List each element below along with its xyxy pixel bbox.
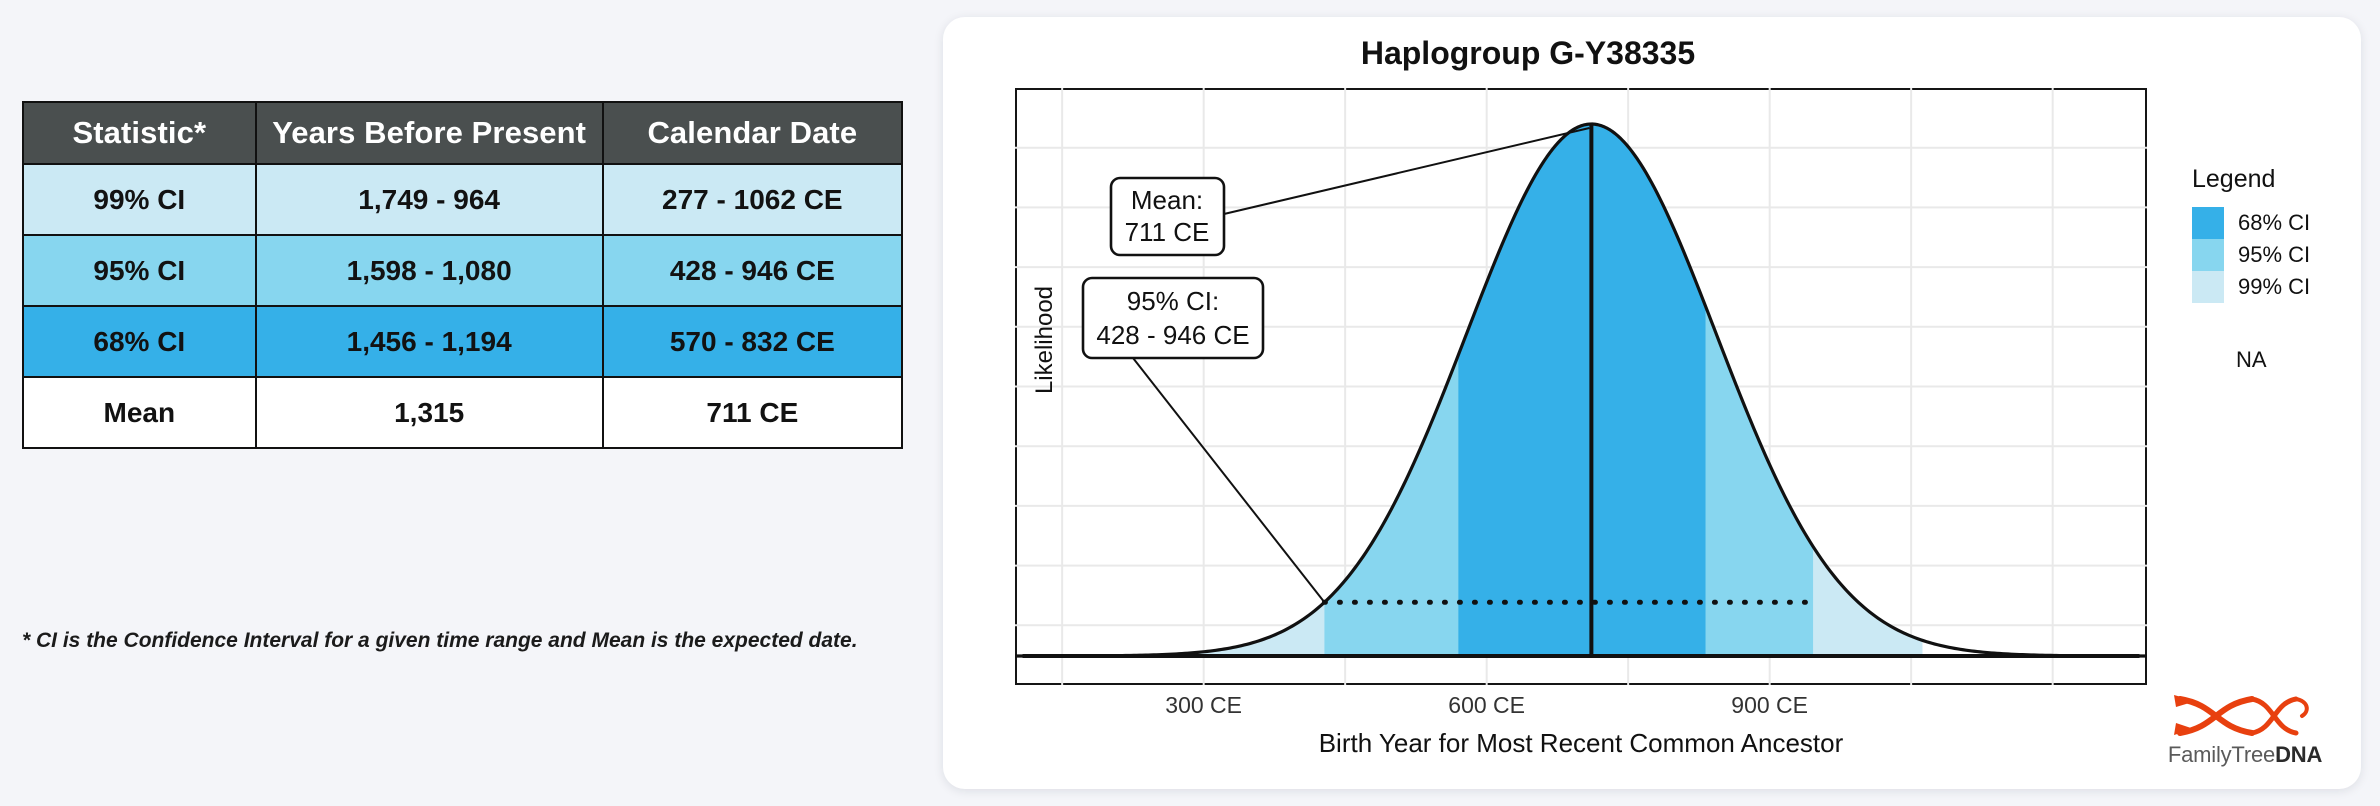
cell-statistic: 68% CI bbox=[23, 306, 256, 377]
cell-calendar: 428 - 946 CE bbox=[603, 235, 902, 306]
ci95-callout-line2: 428 - 946 CE bbox=[1096, 320, 1249, 350]
x-axis-label: Birth Year for Most Recent Common Ancest… bbox=[1015, 728, 2147, 759]
legend: Legend 68% CI 95% CI 99% CI NA bbox=[2192, 165, 2357, 373]
page-root: Statistic* Years Before Present Calendar… bbox=[0, 0, 2380, 806]
cell-ybp: 1,598 - 1,080 bbox=[256, 235, 603, 306]
chart-title: Haplogroup G-Y38335 bbox=[943, 35, 2113, 72]
legend-item-68-ci[interactable]: 68% CI bbox=[2192, 207, 2357, 239]
column-header-statistic: Statistic* bbox=[23, 102, 256, 164]
mean-callout: Mean: 711 CE bbox=[1111, 178, 1224, 255]
statistics-table: Statistic* Years Before Present Calendar… bbox=[22, 101, 903, 449]
likelihood-density-plot: Mean: 711 CE 95% CI: 428 - 946 CE bbox=[1015, 88, 2147, 685]
legend-title: Legend bbox=[2192, 165, 2357, 194]
chart-card: Haplogroup G-Y38335 bbox=[943, 17, 2361, 789]
cell-calendar: 277 - 1062 CE bbox=[603, 164, 902, 235]
dna-helix-icon bbox=[2170, 689, 2320, 737]
legend-item-label: 95% CI bbox=[2238, 242, 2310, 268]
cell-statistic: 95% CI bbox=[23, 235, 256, 306]
table-row: 95% CI 1,598 - 1,080 428 - 946 CE bbox=[23, 235, 902, 306]
cell-statistic: Mean bbox=[23, 377, 256, 448]
x-tick-label: 300 CE bbox=[1165, 692, 1242, 719]
y-axis-label: Likelihood bbox=[1031, 240, 1059, 440]
legend-swatch-icon bbox=[2192, 271, 2224, 303]
wordmark-familytree: FamilyTree bbox=[2168, 742, 2275, 767]
table-header-row: Statistic* Years Before Present Calendar… bbox=[23, 102, 902, 164]
table-row: 68% CI 1,456 - 1,194 570 - 832 CE bbox=[23, 306, 902, 377]
x-tick-label: 900 CE bbox=[1731, 692, 1808, 719]
mean-callout-line1: Mean: bbox=[1131, 185, 1203, 215]
legend-na-text: NA bbox=[2236, 347, 2357, 373]
wordmark-dna: DNA bbox=[2275, 742, 2322, 767]
cell-calendar: 570 - 832 CE bbox=[603, 306, 902, 377]
cell-ybp: 1,749 - 964 bbox=[256, 164, 603, 235]
plot-area: Mean: 711 CE 95% CI: 428 - 946 CE Likeli… bbox=[1015, 88, 2147, 685]
cell-calendar: 711 CE bbox=[603, 377, 902, 448]
legend-item-label: 68% CI bbox=[2238, 210, 2310, 236]
familytreedna-logo: FamilyTreeDNA bbox=[2155, 689, 2335, 768]
cell-statistic: 99% CI bbox=[23, 164, 256, 235]
familytreedna-wordmark: FamilyTreeDNA bbox=[2155, 742, 2335, 768]
legend-item-label: 99% CI bbox=[2238, 274, 2310, 300]
legend-item-95-ci[interactable]: 95% CI bbox=[2192, 239, 2357, 271]
ci95-callout: 95% CI: 428 - 946 CE bbox=[1083, 278, 1263, 358]
cell-ybp: 1,456 - 1,194 bbox=[256, 306, 603, 377]
column-header-years-before-present: Years Before Present bbox=[256, 102, 603, 164]
legend-swatch-icon bbox=[2192, 207, 2224, 239]
table-row: 99% CI 1,749 - 964 277 - 1062 CE bbox=[23, 164, 902, 235]
legend-swatch-icon bbox=[2192, 239, 2224, 271]
mean-callout-line2: 711 CE bbox=[1125, 217, 1210, 247]
ci95-callout-line1: 95% CI: bbox=[1127, 286, 1220, 316]
cell-ybp: 1,315 bbox=[256, 377, 603, 448]
table-footnote: * CI is the Confidence Interval for a gi… bbox=[22, 629, 902, 653]
x-tick-label: 600 CE bbox=[1448, 692, 1525, 719]
statistics-panel: Statistic* Years Before Present Calendar… bbox=[0, 0, 920, 806]
band-68-ci bbox=[1458, 88, 1705, 685]
table-row: Mean 1,315 711 CE bbox=[23, 377, 902, 448]
column-header-calendar-date: Calendar Date bbox=[603, 102, 902, 164]
legend-item-99-ci[interactable]: 99% CI bbox=[2192, 271, 2357, 303]
